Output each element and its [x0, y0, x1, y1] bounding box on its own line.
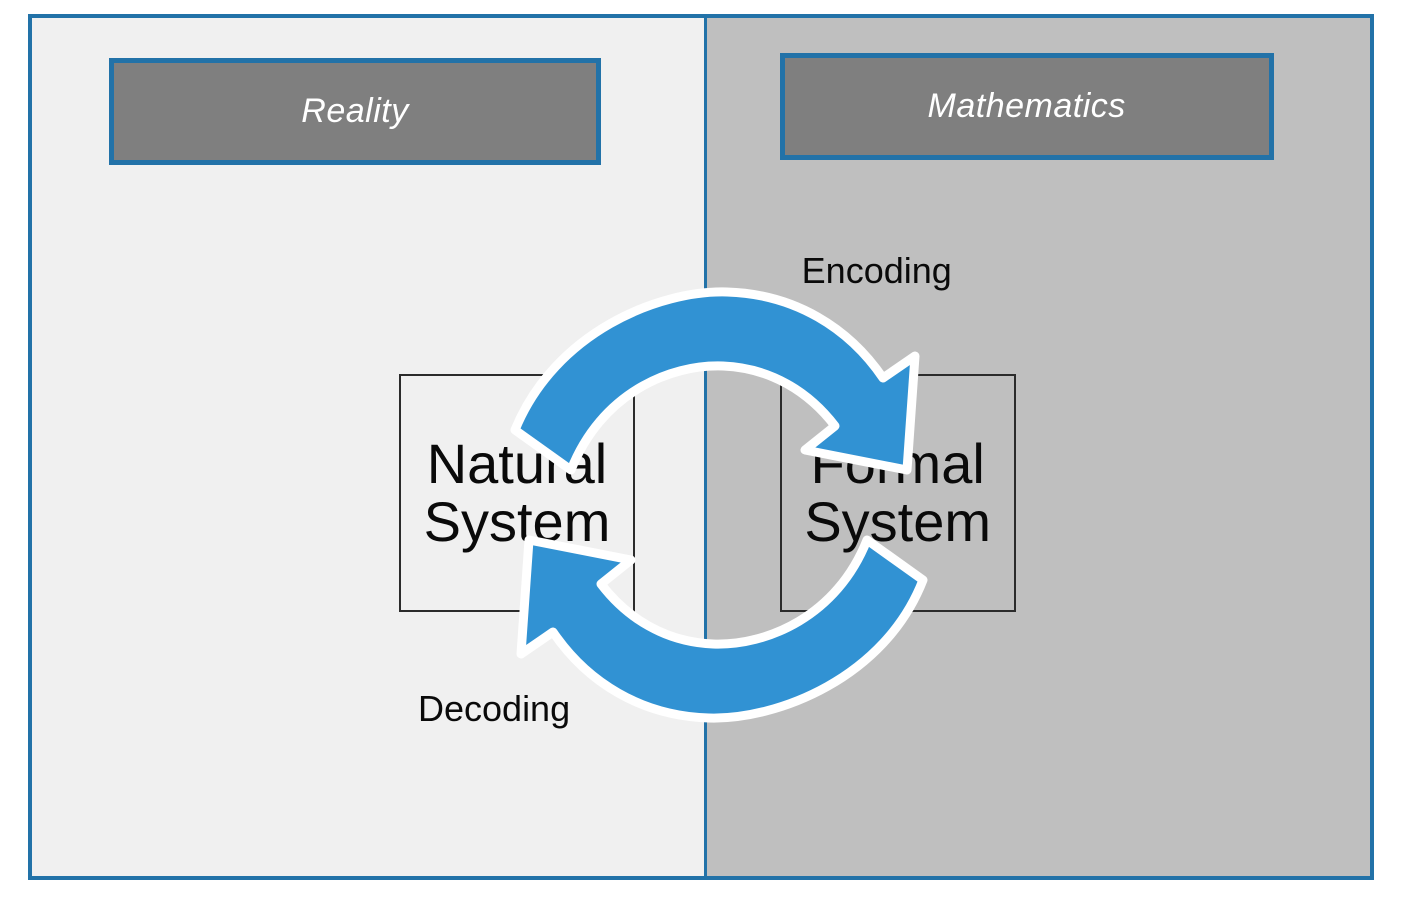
arrow-label-decoding: Decoding	[418, 688, 570, 730]
diagram-frame: Reality Natural System Mathematics Forma…	[28, 14, 1374, 880]
node-formal-system: Formal System	[780, 374, 1016, 612]
panel-mathematics: Mathematics Formal System Encoding	[704, 18, 1370, 876]
node-natural-system: Natural System	[399, 374, 635, 612]
header-banner-mathematics-label: Mathematics	[928, 87, 1126, 126]
panel-reality: Reality Natural System	[32, 18, 704, 876]
header-banner-reality: Reality	[109, 58, 601, 165]
header-banner-reality-label: Reality	[301, 92, 408, 131]
node-formal-system-label: Formal System	[804, 435, 991, 550]
header-banner-mathematics: Mathematics	[780, 53, 1274, 160]
arrow-label-encoding: Encoding	[802, 250, 952, 292]
node-natural-system-label: Natural System	[424, 435, 611, 550]
